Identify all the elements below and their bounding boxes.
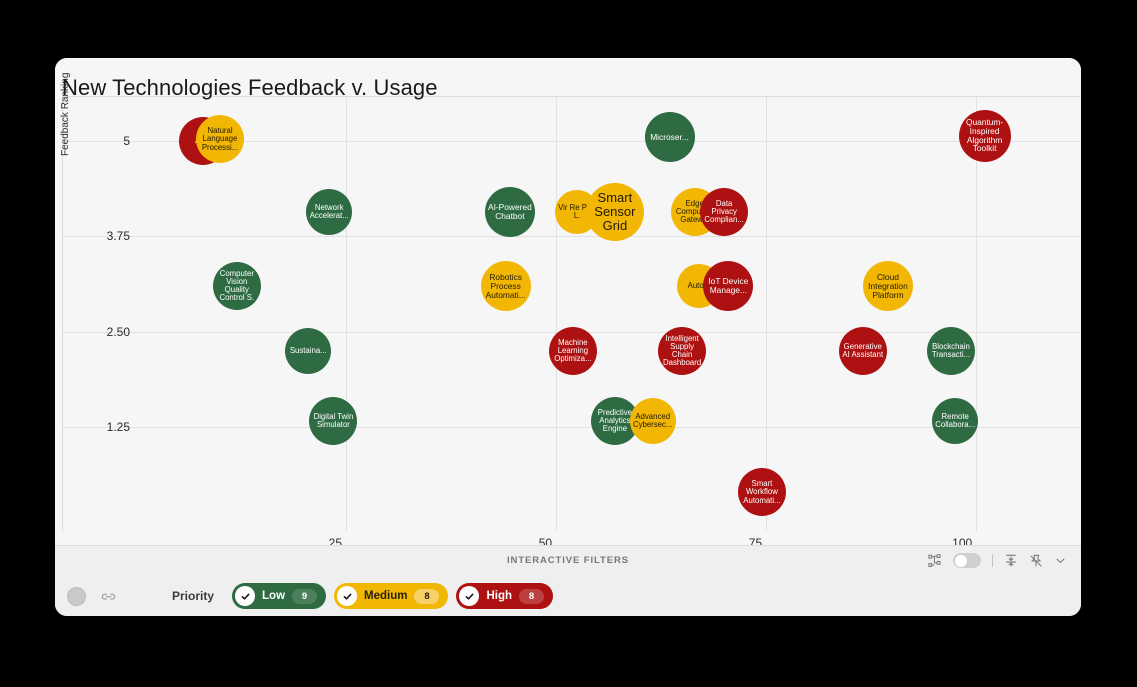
bubble-label: Smart Workflow Automati... [740,480,784,505]
y-tick-label: 3.75 [62,229,130,243]
chip-label: High [486,590,512,602]
filters-bar-actions [928,553,1067,568]
priority-chips: Low9Medium8High8 [232,583,553,609]
chip-count: 8 [414,589,439,604]
bubble-point[interactable]: Sustaina... [285,328,331,374]
interactive-filters-bar: INTERACTIVE FILTERS [55,545,1081,616]
link-icon[interactable] [100,588,117,605]
bubble-point[interactable]: Blockchain Transacti... [927,327,975,375]
collapse-icon[interactable] [1004,554,1018,568]
priority-chip-high[interactable]: High8 [456,583,553,609]
chip-count: 9 [292,589,317,604]
y-tick-label: 2.50 [62,325,130,339]
divider [992,554,993,567]
bubble-label: Smart Sensor Grid [588,191,642,232]
bubble-point[interactable]: Microser... [645,112,695,162]
priority-label: Priority [172,589,214,603]
bubble-point[interactable]: Cloud Integration Platform [863,261,913,311]
bubble-label: Computer Vision Quality Control S. [215,270,259,303]
bubble-point[interactable]: Computer Vision Quality Control S. [213,262,261,310]
y-tick-label: 1.25 [62,420,130,434]
gridline-horizontal [62,236,1081,237]
bubble-label: AI-Powered Chatbot [487,203,533,221]
gridline-vertical [556,96,557,531]
bubble-label: Remote Collabora... [934,413,976,430]
filter-toggle[interactable] [953,553,981,568]
priority-chip-med[interactable]: Medium8 [334,583,448,609]
bubble-point[interactable]: Intelligent Supply Chain Dashboard [658,327,706,375]
bubble-label: Network Accelerat... [308,204,350,221]
gridline-vertical [346,96,347,531]
bubble-label: Natural Language Processi... [198,127,242,152]
scatter-plot[interactable]: 53.752.501.25 255075100 Feedback Ranking… [62,96,1081,548]
bubble-label: IoT Device Manage... [705,277,751,295]
bubble-label: Microser... [647,133,693,142]
dashboard-window: New Technologies Feedback v. Usage 53.75… [55,58,1081,616]
bubble-label: Robotics Process Automati... [483,273,529,300]
priority-chip-low[interactable]: Low9 [232,583,326,609]
gridline-horizontal [62,427,1081,428]
bubble-label: Digital Twin Simulator [311,413,355,430]
check-icon[interactable] [337,586,357,606]
bubble-label: Quantum-Inspired Algorithm Toolkit [961,118,1009,154]
bubble-point[interactable]: Data Privacy Complian... [700,188,748,236]
bubble-label: Sustaina... [287,347,329,355]
bubble-point[interactable]: Robotics Process Automati... [481,261,531,311]
bubble-label: Machine Learning Optimiza... [551,339,595,364]
bubble-label: Cloud Integration Platform [865,273,911,300]
bubble-label: Generative AI Assistant [841,343,885,360]
check-icon[interactable] [235,586,255,606]
bubble-point[interactable]: Machine Learning Optimiza... [549,327,597,375]
unpin-icon[interactable] [1029,554,1043,568]
bubble-label: Intelligent Supply Chain Dashboard [660,335,704,368]
bubble-point[interactable]: Network Accelerat... [306,189,352,235]
bubble-label: Blockchain Transacti... [929,343,973,360]
chart-panel: New Technologies Feedback v. Usage 53.75… [55,58,1081,545]
priority-filter-row: Priority Low9Medium8High8 [55,576,1081,616]
gridline-vertical [976,96,977,531]
bubble-point[interactable]: Smart Sensor Grid [586,183,644,241]
record-button[interactable] [67,587,86,606]
check-icon[interactable] [459,586,479,606]
bubble-label: Advanced Cybersec... [632,413,674,430]
bubble-point[interactable]: AI-Powered Chatbot [485,187,535,237]
bubble-point[interactable]: Generative AI Assistant [839,327,887,375]
chip-label: Medium [364,590,407,602]
chevron-down-icon[interactable] [1054,554,1067,567]
bubble-point[interactable]: Quantum-Inspired Algorithm Toolkit [959,110,1011,162]
hierarchy-icon[interactable] [928,554,942,568]
bubble-point[interactable]: Advanced Cybersec... [630,398,676,444]
chip-count: 8 [519,589,544,604]
gridline-vertical [766,96,767,531]
y-tick-label: 5 [62,134,130,148]
page-title: New Technologies Feedback v. Usage [62,75,438,101]
bubble-label: Data Privacy Complian... [702,200,746,225]
chip-label: Low [262,590,285,602]
